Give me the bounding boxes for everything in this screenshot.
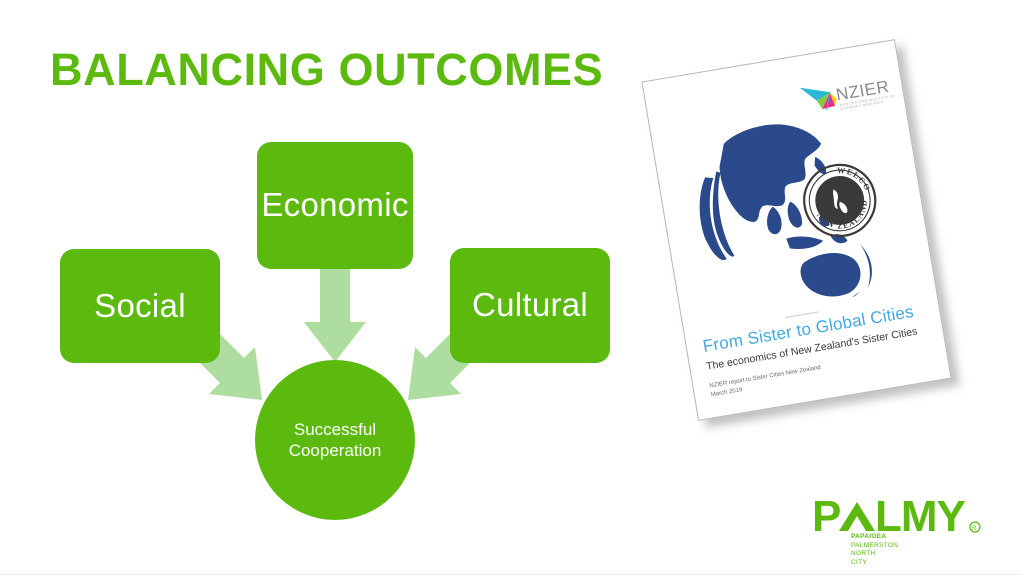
report-page: NZIER NEW ZEALAND INSTITUTE OF ECONOMIC … [641, 39, 951, 421]
report-divider [785, 311, 819, 318]
palmy-sub-line-4: CITY [851, 559, 898, 568]
palmy-wordmark-icon: P LMY R [812, 494, 992, 540]
slide-canvas: BALANCING OUTCOMES Economic Social Cultu… [0, 0, 1022, 575]
palmy-wordmark: P LMY R [812, 494, 992, 538]
diagram-node-cultural-label: Cultural [472, 287, 588, 323]
balancing-outcomes-diagram: Economic Social Cultural Successful Coop… [0, 0, 640, 575]
outcome-label-line2: Cooperation [289, 440, 382, 461]
diagram-node-social[interactable]: Social [60, 249, 220, 363]
diagram-node-cultural[interactable]: Cultural [450, 248, 610, 363]
palmy-sub-line-2: PALMERSTON [851, 542, 898, 551]
svg-text:R: R [972, 526, 977, 532]
arrow-economic-to-outcome [304, 269, 366, 362]
svg-text:P: P [812, 494, 840, 540]
diagram-node-economic[interactable]: Economic [257, 142, 413, 269]
welcome-to-new-zealand-stamp-icon: WELCOME TO NEW ZEALAND [797, 158, 882, 243]
palmy-sub-lines: PAPAIOEA PALMERSTON NORTH CITY [851, 533, 898, 567]
diagram-node-social-label: Social [94, 288, 186, 324]
outcome-label-line1: Successful [294, 419, 376, 440]
report-cover-thumbnail[interactable]: NZIER NEW ZEALAND INSTITUTE OF ECONOMIC … [640, 30, 1000, 450]
palmy-sub-line-1: PAPAIOEA [851, 533, 898, 542]
palmy-logo[interactable]: P LMY R PAPAIOEA PALMERSTON NORTH CITY [812, 494, 992, 564]
diagram-node-successful-cooperation[interactable]: Successful Cooperation [255, 360, 415, 520]
palmy-sub-line-3: NORTH [851, 550, 898, 559]
diagram-node-economic-label: Economic [261, 187, 408, 223]
